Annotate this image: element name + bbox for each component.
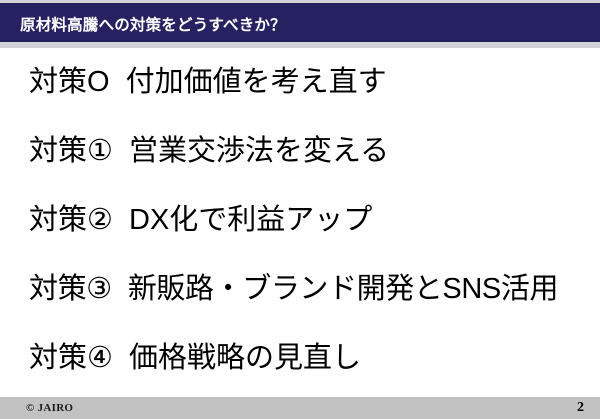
list-item: 対策④価格戦略の見直し [29, 337, 600, 379]
list-item-label: 対策② [29, 204, 113, 236]
list-item-text: DX化で利益アップ [129, 204, 372, 236]
list-item-label: 対策① [29, 135, 113, 167]
list-item-label: 対策④ [29, 342, 113, 374]
list-item: 対策O付加価値を考え直す [29, 61, 600, 103]
page-number: 2 [577, 399, 584, 416]
slide-canvas: 原材料高騰への対策をどうすべきか？ 対策O付加価値を考え直す 対策①営業交渉法を… [0, 0, 600, 419]
list-item-label: 対策③ [29, 273, 112, 305]
list-item: 対策②DX化で利益アップ [29, 199, 600, 241]
list-item: 対策③新販路・ブランド開発とSNS活用 [29, 268, 600, 310]
list-item-text: 新販路・ブランド開発とSNS活用 [128, 273, 558, 305]
list-item-text: 営業交渉法を変える [129, 135, 389, 167]
page-title: 原材料高騰への対策をどうすべきか？ [20, 14, 580, 40]
list-item-text: 付加価値を考え直す [126, 66, 387, 98]
header-bottom-divider [0, 42, 600, 48]
header-bar: 原材料高騰への対策をどうすべきか？ [0, 3, 600, 42]
list-item: 対策①営業交渉法を変える [29, 130, 600, 172]
copyright-text: © JAIRO [26, 401, 73, 415]
list-item-label: 対策O [29, 66, 110, 98]
list-item-text: 価格戦略の見直し [129, 342, 361, 374]
measures-list: 対策O付加価値を考え直す 対策①営業交渉法を変える 対策②DX化で利益アップ 対… [0, 55, 600, 397]
footer-bar [0, 397, 600, 419]
